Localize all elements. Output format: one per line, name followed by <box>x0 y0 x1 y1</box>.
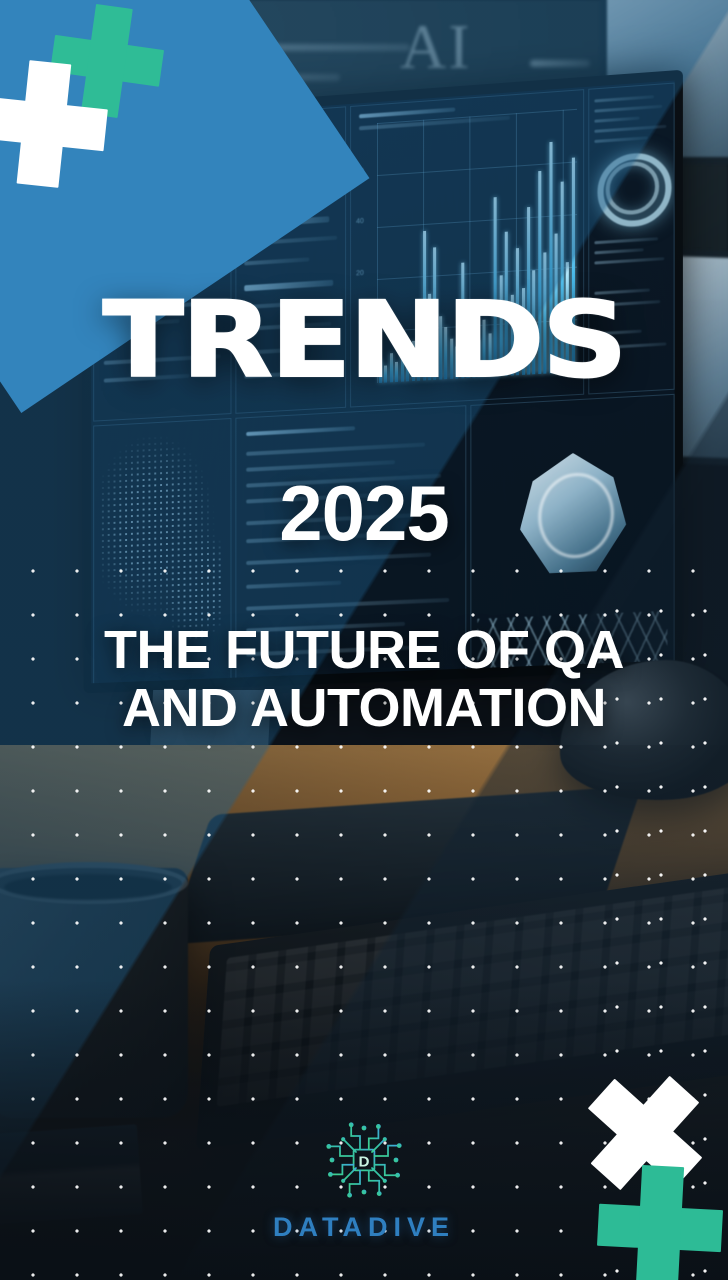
headline-year: 2025 <box>0 474 728 552</box>
subtitle-line-1: THE FUTURE OF QA <box>0 622 728 680</box>
circuit-d-logo-icon: D <box>304 1112 424 1208</box>
cross-white-top-left-icon <box>0 56 112 192</box>
subtitle: THE FUTURE OF QA AND AUTOMATION <box>0 622 728 738</box>
poster-canvas: AI <box>0 0 728 1280</box>
brand-logo: D DATADIVE <box>0 1112 728 1243</box>
subtitle-line-2: AND AUTOMATION <box>0 680 728 738</box>
logo-letter-d: D <box>359 1153 370 1170</box>
headline-trends: TRENDS <box>0 288 728 392</box>
brand-wordmark: DATADIVE <box>0 1212 728 1243</box>
